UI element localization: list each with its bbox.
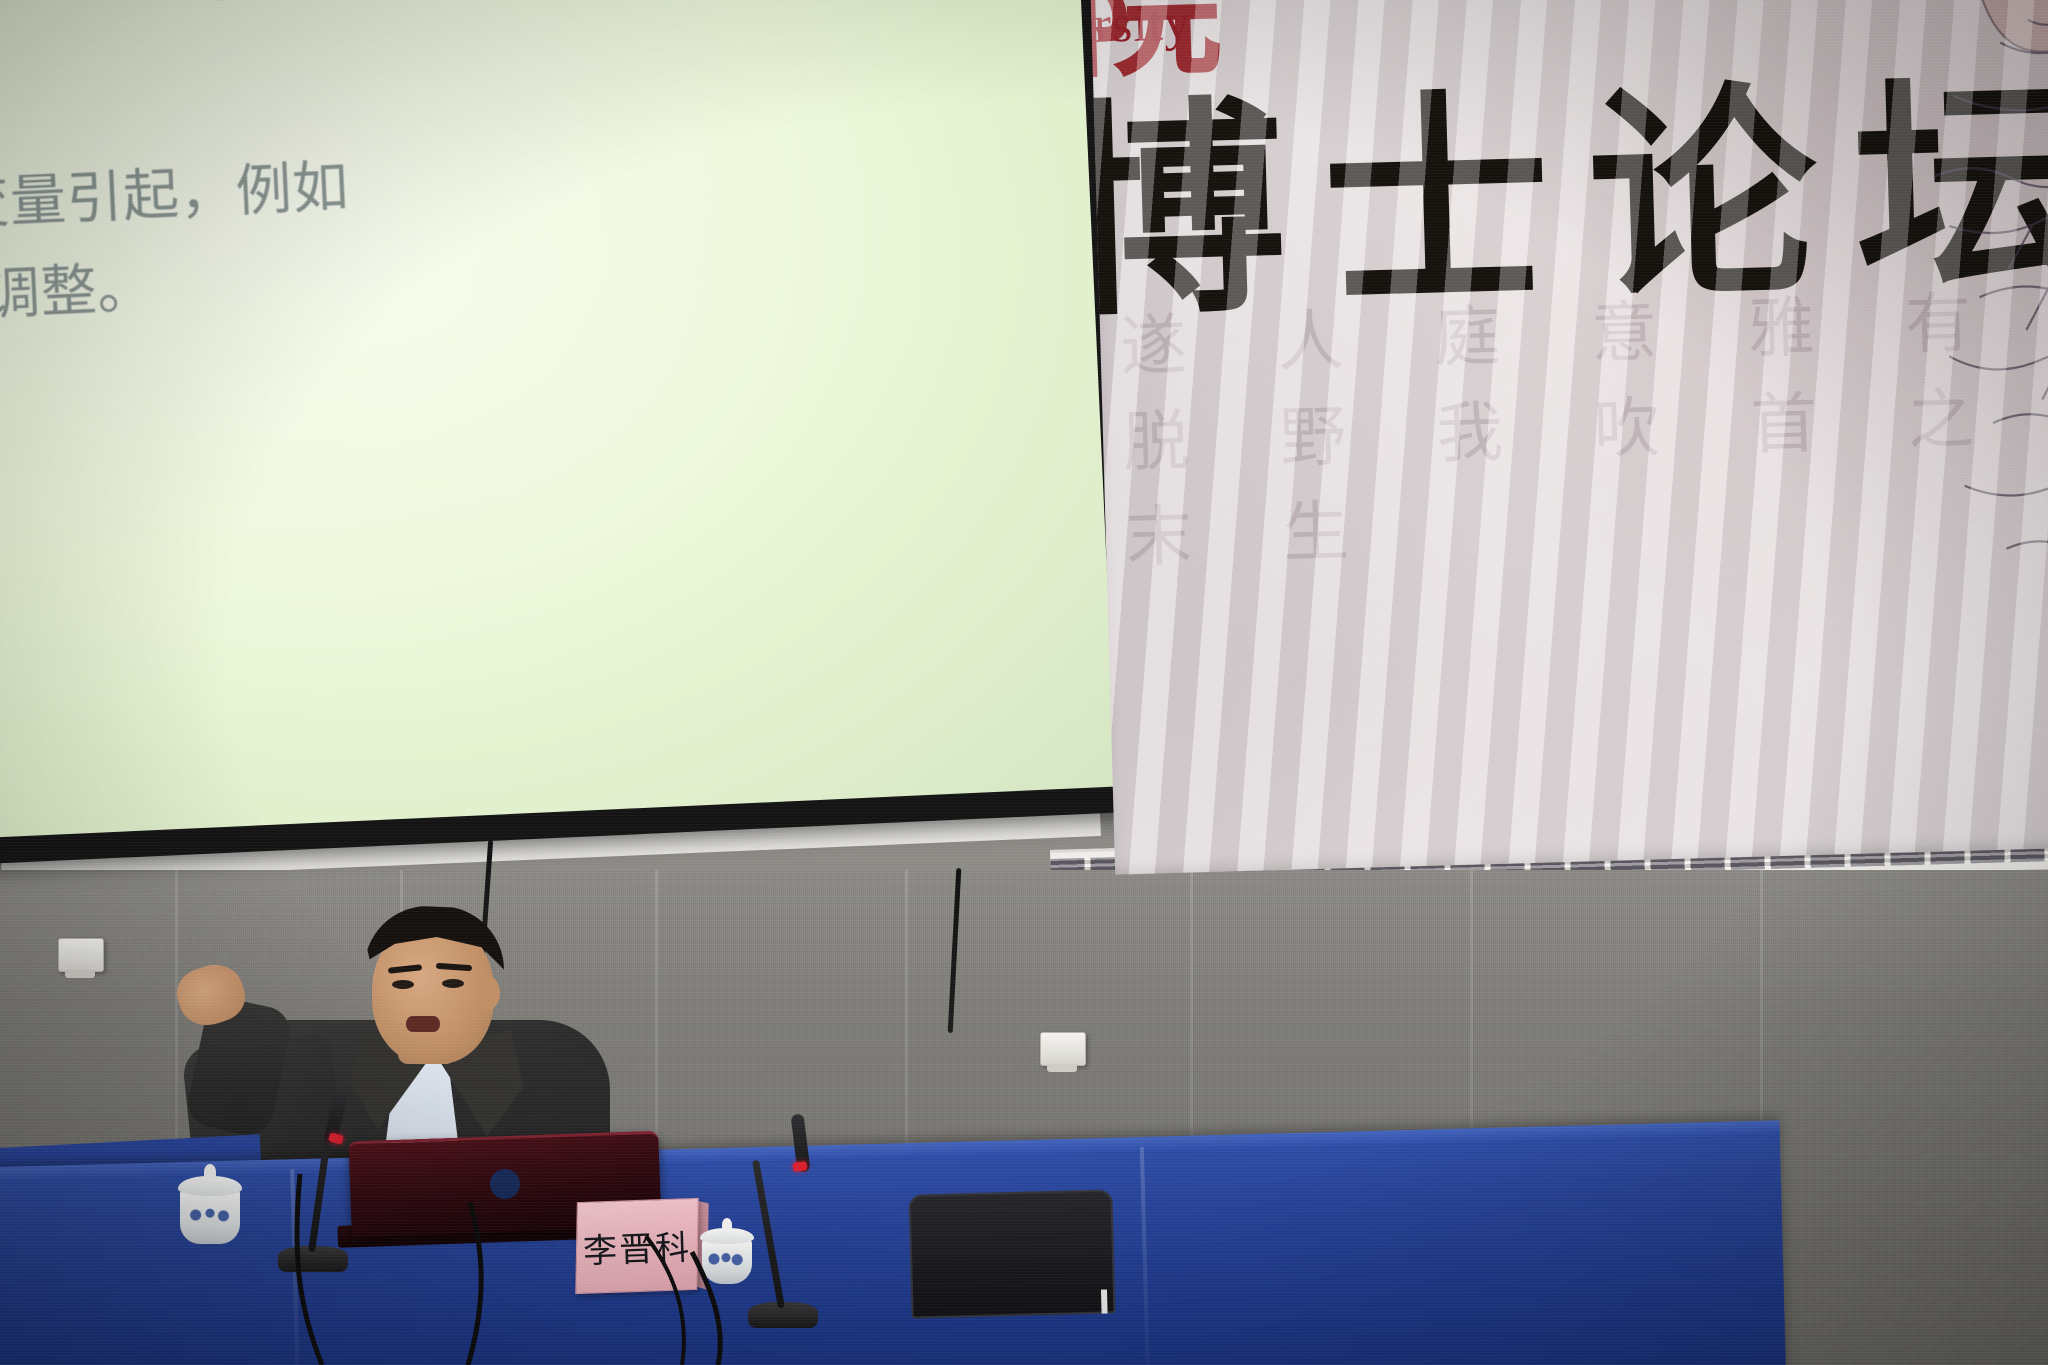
slide-line-2: 要由于外生变量引起，例如 bbox=[0, 142, 350, 254]
wall-outlet-icon bbox=[58, 938, 104, 972]
presenter-ear bbox=[476, 976, 500, 1010]
cables bbox=[0, 1140, 900, 1365]
presenter-eye-left bbox=[392, 980, 414, 989]
slide-line-3: 或货币政策的调整。 bbox=[0, 243, 155, 347]
chair[interactable] bbox=[908, 1189, 1115, 1318]
screen-surface: 化角度，Top-down approach 要由于外生变量引起，例如 或货币政策… bbox=[0, 0, 1117, 838]
ink-painting-icon bbox=[1829, 0, 2048, 649]
presentation-screen[interactable]: 化角度，Top-down approach 要由于外生变量引起，例如 或货币政策… bbox=[0, 0, 1140, 864]
chair-label-icon bbox=[1101, 1290, 1108, 1314]
presenter-mouth bbox=[406, 1016, 440, 1032]
slide-line-1: 化角度，Top-down approach bbox=[0, 0, 427, 28]
photo-scene: 化角度，Top-down approach 要由于外生变量引起，例如 或货币政策… bbox=[0, 0, 2048, 1365]
university-name-english: ersity bbox=[1090, 0, 1192, 56]
doctoral-forum-banner: 遂 人 庭 意 雅 有 脱 野 我 吹 首 之 末 生 院 ersity 博士论… bbox=[1090, 0, 2048, 875]
presenter-eye-right bbox=[442, 979, 464, 988]
wall-outlet-icon bbox=[1040, 1032, 1086, 1066]
screen-glow bbox=[0, 0, 1117, 838]
